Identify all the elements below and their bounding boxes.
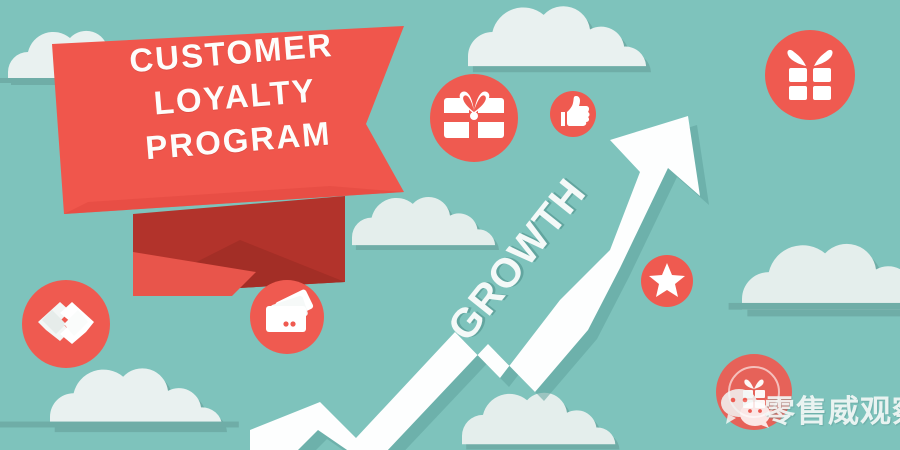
watermark: 零售威观察 (706, 350, 896, 446)
watermark-text: 零售威观察 (764, 386, 900, 431)
handshake-icon[interactable] (22, 280, 110, 368)
poster-canvas: GROWTH CUSTOMER LOYALTY PROGRAM (0, 0, 900, 450)
thumbs-up-icon[interactable] (550, 91, 596, 137)
gift-box-icon[interactable] (765, 30, 855, 120)
credit-card-icon[interactable] (250, 280, 324, 354)
star-icon[interactable] (641, 255, 693, 307)
gift-card-icon[interactable] (430, 74, 518, 162)
